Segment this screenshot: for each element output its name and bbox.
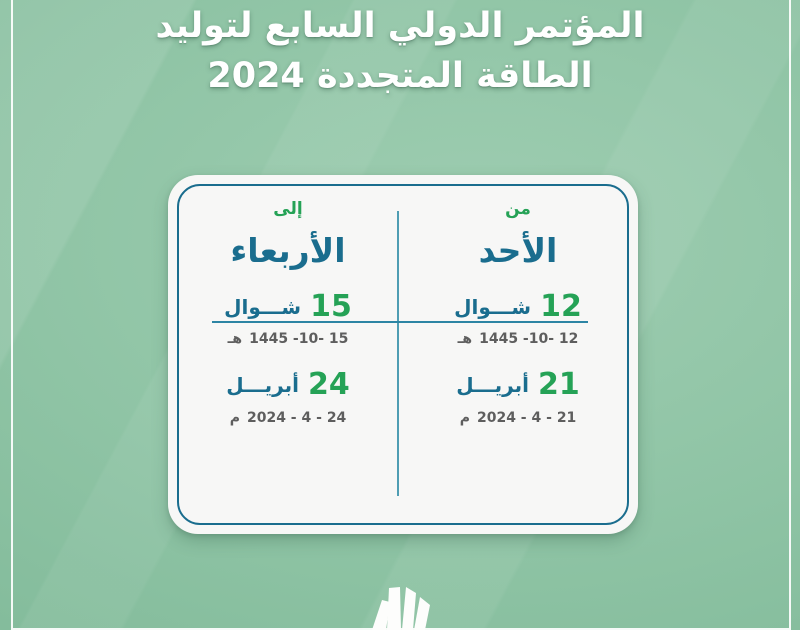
page-title: المؤتمر الدولي السابع لتوليد الطاقة المت… [90, 2, 710, 101]
vertical-divider [397, 211, 399, 496]
from-gregorian-date: 21أبريـــل 21 - 4 - 2024م [419, 369, 617, 426]
to-hijri-day: 15 [310, 289, 352, 324]
from-gregorian-sub: 21 - 4 - 2024م [419, 410, 617, 426]
from-gregorian-era: م [460, 410, 470, 426]
column-to: إلى الأربعاء 15شـــوال 15 -10- 1445هـ 24… [189, 201, 387, 426]
to-gregorian-month: أبريـــل [226, 373, 299, 397]
to-gregorian-era: م [230, 410, 240, 426]
to-hijri-main: 15شـــوال [189, 291, 387, 323]
from-gregorian-main: 21أبريـــل [419, 369, 617, 401]
to-day-name: الأربعاء [189, 234, 387, 269]
from-hijri-full: 12 -10- 1445 [479, 331, 578, 347]
from-hijri-date: 12شـــوال 12 -10- 1445هـ [419, 291, 617, 348]
from-hijri-sub: 12 -10- 1445هـ [419, 331, 617, 347]
to-label: إلى [189, 201, 387, 218]
to-gregorian-sub: 24 - 4 - 2024م [189, 410, 387, 426]
to-hijri-full: 15 -10- 1445 [249, 331, 348, 347]
palm-fan-icon [356, 572, 446, 630]
to-gregorian-date: 24أبريـــل 24 - 4 - 2024م [189, 369, 387, 426]
from-gregorian-full: 21 - 4 - 2024 [477, 410, 576, 426]
page-title-line-1: المؤتمر الدولي السابع لتوليد [90, 2, 710, 52]
from-day-name: الأحد [419, 234, 617, 269]
to-hijri-month: شـــوال [224, 295, 301, 319]
from-hijri-month: شـــوال [454, 295, 531, 319]
poster-canvas: المؤتمر الدولي السابع لتوليد الطاقة المت… [0, 0, 800, 630]
to-gregorian-day: 24 [308, 367, 350, 402]
from-hijri-era: هـ [458, 331, 473, 347]
from-hijri-day: 12 [540, 289, 582, 324]
column-from: من الأحد 12شـــوال 12 -10- 1445هـ 21أبري… [419, 201, 617, 426]
from-gregorian-day: 21 [538, 367, 580, 402]
from-label: من [419, 201, 617, 218]
from-hijri-main: 12شـــوال [419, 291, 617, 323]
to-gregorian-full: 24 - 4 - 2024 [247, 410, 346, 426]
to-hijri-sub: 15 -10- 1445هـ [189, 331, 387, 347]
date-card: من الأحد 12شـــوال 12 -10- 1445هـ 21أبري… [168, 175, 638, 534]
page-title-line-2: الطاقة المتجددة 2024 [90, 52, 710, 102]
to-hijri-date: 15شـــوال 15 -10- 1445هـ [189, 291, 387, 348]
from-gregorian-month: أبريـــل [456, 373, 529, 397]
to-hijri-era: هـ [228, 331, 243, 347]
to-gregorian-main: 24أبريـــل [189, 369, 387, 401]
